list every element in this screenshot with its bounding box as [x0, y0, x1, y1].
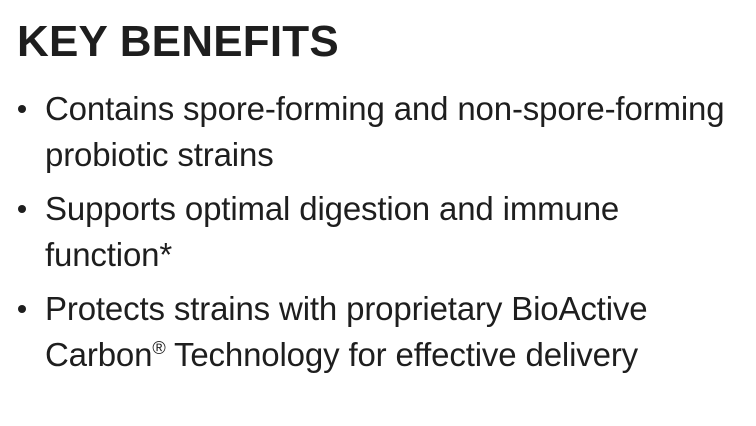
list-item: Protects strains with proprietary BioAct…	[0, 286, 756, 378]
benefit-text-brand: Carbon	[45, 336, 152, 373]
page-title: KEY BENEFITS	[17, 16, 339, 68]
benefit-text: Contains spore-forming and non-spore-for…	[45, 86, 740, 178]
bullet-dot-icon	[18, 305, 26, 313]
benefit-text: Protects strains with proprietary BioAct…	[45, 286, 740, 378]
registered-trademark-icon: ®	[152, 338, 165, 358]
key-benefits-panel: KEY BENEFITS Contains spore-forming and …	[0, 0, 756, 426]
benefit-text-part-trailing: Technology for effective delivery	[166, 336, 638, 373]
list-item: Supports optimal digestion and immune fu…	[0, 186, 756, 278]
bullet-dot-icon	[18, 105, 26, 113]
bullet-dot-icon	[18, 205, 26, 213]
list-item: Contains spore-forming and non-spore-for…	[0, 86, 756, 178]
benefit-text: Supports optimal digestion and immune fu…	[45, 186, 740, 278]
benefits-list: Contains spore-forming and non-spore-for…	[0, 86, 756, 378]
benefit-text-part-main: Protects strains with proprietary BioAct…	[45, 290, 647, 327]
